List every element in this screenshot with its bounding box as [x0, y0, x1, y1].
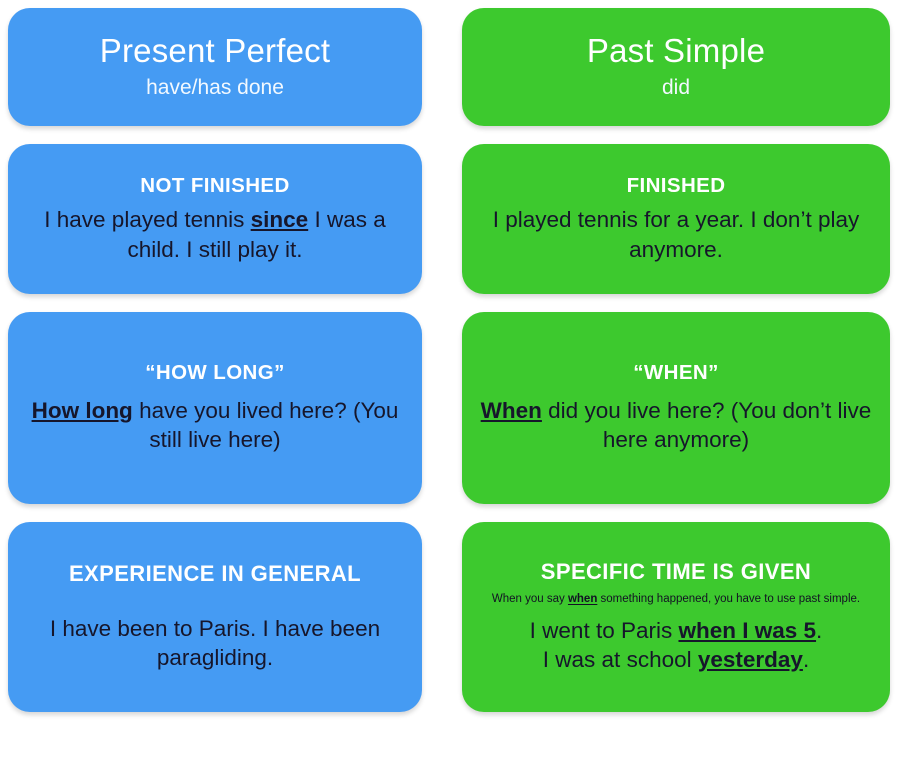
- card-how-long: “HOW LONG” How long have you lived here?…: [8, 312, 422, 504]
- specific-time-note-after: something happened, you have to use past…: [597, 593, 860, 605]
- specific-time-note-before: When you say: [492, 593, 568, 605]
- how-long-heading: “HOW LONG”: [145, 361, 285, 386]
- grammar-comparison-board: Present Perfect have/has done Past Simpl…: [0, 0, 901, 758]
- how-long-body-emphasis: How long: [32, 398, 133, 423]
- specific-time-note-emphasis: when: [568, 593, 597, 605]
- card-experience-in-general: EXPERIENCE IN GENERAL I have been to Par…: [8, 522, 422, 712]
- finished-body-before: I played tennis for a year. I don’t play…: [493, 207, 859, 262]
- past-simple-title: Past Simple: [587, 32, 765, 71]
- specific-time-line2-after: .: [803, 647, 809, 672]
- not-finished-body-emphasis: since: [251, 207, 309, 232]
- present-perfect-subtitle: have/has done: [146, 74, 284, 101]
- when-body-emphasis: When: [481, 398, 542, 423]
- finished-heading: FINISHED: [627, 174, 726, 199]
- specific-time-example-2: I was at school yesterday.: [530, 645, 823, 675]
- experience-heading: EXPERIENCE IN GENERAL: [69, 561, 361, 587]
- when-heading: “WHEN”: [633, 361, 719, 386]
- card-finished: FINISHED I played tennis for a year. I d…: [462, 144, 890, 294]
- how-long-body: How long have you lived here? (You still…: [20, 396, 410, 455]
- not-finished-heading: NOT FINISHED: [140, 174, 289, 199]
- card-past-simple-header: Past Simple did: [462, 8, 890, 126]
- experience-body-before: I have been to Paris. I have been paragl…: [50, 616, 380, 671]
- when-body: When did you live here? (You don’t live …: [474, 396, 878, 455]
- specific-time-example-1: I went to Paris when I was 5.: [530, 616, 823, 646]
- specific-time-line1-emphasis: when I was 5: [678, 618, 816, 643]
- specific-time-line1-after: .: [816, 618, 822, 643]
- specific-time-heading: SPECIFIC TIME IS GIVEN: [541, 559, 811, 585]
- specific-time-line1-before: I went to Paris: [530, 618, 679, 643]
- card-when: “WHEN” When did you live here? (You don’…: [462, 312, 890, 504]
- card-not-finished: NOT FINISHED I have played tennis since …: [8, 144, 422, 294]
- specific-time-body: I went to Paris when I was 5. I was at s…: [530, 616, 823, 675]
- not-finished-body: I have played tennis since I was a child…: [20, 205, 410, 264]
- not-finished-body-before: I have played tennis: [44, 207, 250, 232]
- when-body-after: did you live here? (You don’t live here …: [542, 398, 871, 453]
- past-simple-subtitle: did: [662, 74, 690, 101]
- how-long-body-after: have you lived here? (You still live her…: [133, 398, 399, 453]
- specific-time-note: When you say when something happened, yo…: [492, 592, 860, 606]
- card-specific-time-is-given: SPECIFIC TIME IS GIVEN When you say when…: [462, 522, 890, 712]
- experience-body: I have been to Paris. I have been paragl…: [20, 614, 410, 673]
- finished-body: I played tennis for a year. I don’t play…: [474, 205, 878, 264]
- specific-time-line2-emphasis: yesterday: [698, 647, 803, 672]
- card-present-perfect-header: Present Perfect have/has done: [8, 8, 422, 126]
- present-perfect-title: Present Perfect: [100, 32, 330, 71]
- specific-time-line2-before: I was at school: [543, 647, 698, 672]
